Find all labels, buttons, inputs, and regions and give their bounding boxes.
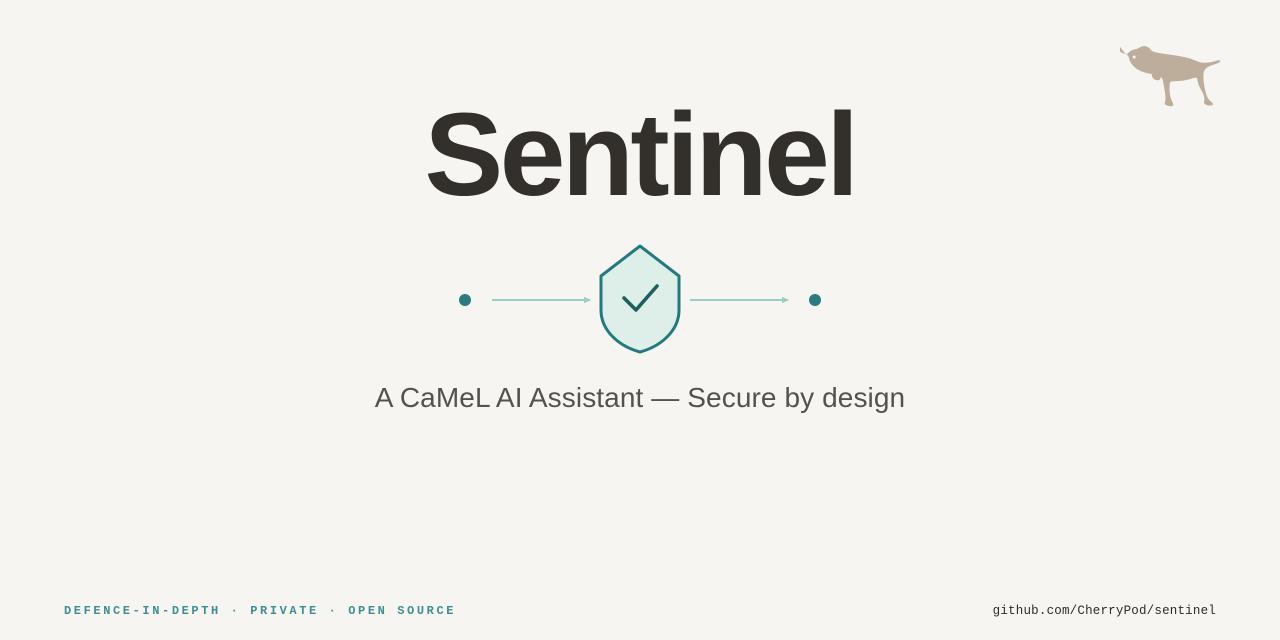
footer-repo-link[interactable]: github.com/CherryPod/sentinel <box>993 604 1216 618</box>
destination-dot-icon <box>809 294 821 306</box>
footer-tagline: DEFENCE-IN-DEPTH · PRIVATE · OPEN SOURCE <box>64 604 456 618</box>
hero-section: Sentinel A CaMeL AI Assistant — Secure b… <box>0 0 1280 640</box>
security-flow-diagram <box>440 238 840 360</box>
page-title: Sentinel <box>0 96 1280 214</box>
page-subtitle: A CaMeL AI Assistant — Secure by design <box>0 380 1280 416</box>
shield-check-icon <box>601 246 679 352</box>
source-dot-icon <box>459 294 471 306</box>
